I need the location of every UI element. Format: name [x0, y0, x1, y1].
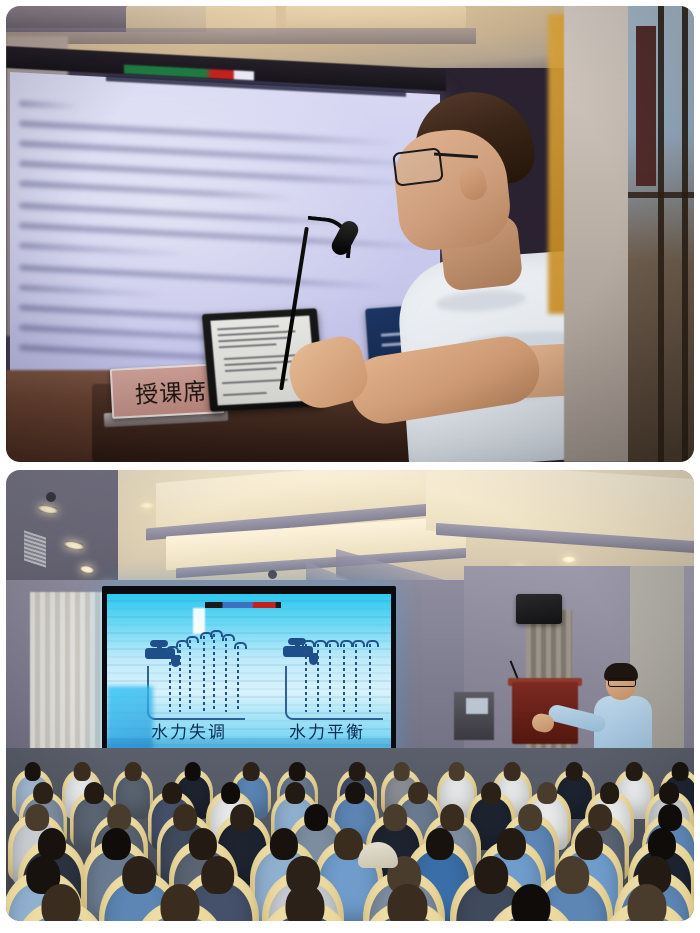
- audience-head: [511, 884, 550, 921]
- window-mullion: [658, 6, 664, 462]
- nameplate-label: 授课席: [134, 372, 208, 410]
- audience-head: [440, 804, 464, 831]
- audience-head: [289, 762, 306, 781]
- audience-head: [482, 782, 502, 804]
- screen-scanline: [107, 624, 391, 626]
- equipment-monitor: [466, 698, 488, 714]
- audience-head: [626, 762, 643, 781]
- wall-speaker-icon: [516, 594, 562, 624]
- audience-head: [504, 762, 521, 781]
- audience-head: [345, 782, 365, 804]
- audience-head: [449, 762, 466, 781]
- audience-member: [19, 884, 102, 921]
- audience-head: [659, 804, 683, 831]
- ceiling-panel: [286, 6, 466, 28]
- audience-head: [108, 804, 132, 831]
- audience-member: [366, 884, 449, 921]
- audience-head: [243, 762, 260, 781]
- audience-head: [270, 828, 298, 860]
- audience-head: [231, 804, 255, 831]
- pillar: [564, 6, 630, 462]
- ceiling-camera-icon: [46, 492, 56, 502]
- audience-head: [162, 782, 182, 804]
- screen-scanline: [107, 632, 391, 634]
- pipe-left: [147, 666, 245, 720]
- audience-head: [408, 782, 428, 804]
- window: [628, 6, 694, 462]
- downlight: [562, 556, 576, 563]
- audience-head: [33, 782, 53, 804]
- audience-head: [41, 884, 80, 921]
- audience-head: [189, 828, 217, 860]
- audience-head: [304, 804, 328, 831]
- window-rail: [628, 192, 694, 198]
- audience-head: [660, 782, 680, 804]
- audience-head: [383, 804, 407, 831]
- audience-head: [38, 828, 66, 860]
- audience-head: [497, 828, 525, 860]
- audience-head: [627, 884, 666, 921]
- photo-top-instructor-at-podium[interactable]: 授课席: [6, 6, 694, 462]
- audience-head: [349, 762, 366, 781]
- photo-bottom-audience-hall[interactable]: 水力失调 水力平衡: [6, 470, 694, 921]
- audience-head: [672, 762, 689, 781]
- audience-head: [648, 828, 676, 860]
- audience-head: [285, 782, 305, 804]
- audience-member: [605, 884, 688, 921]
- photo-collage: 授课席: [0, 0, 700, 933]
- slide-toolbar: [205, 602, 281, 608]
- ceiling-shadow: [6, 28, 476, 44]
- audience-head: [518, 804, 542, 831]
- audience-head: [600, 782, 620, 804]
- audience-head: [285, 884, 324, 921]
- audience-head: [185, 762, 202, 781]
- audience-head: [84, 782, 104, 804]
- audience-head: [74, 762, 91, 781]
- audience-head: [537, 782, 557, 804]
- audience-head: [125, 762, 142, 781]
- window-dark-panel: [636, 26, 656, 186]
- audience-head: [24, 762, 41, 781]
- audience-head: [25, 804, 49, 831]
- ceiling-camera-icon: [268, 570, 277, 579]
- audience-head: [174, 804, 198, 831]
- screen-scanline: [107, 608, 391, 610]
- screen-scanline: [107, 616, 391, 618]
- audience-member: [489, 884, 572, 921]
- audience-head: [160, 884, 199, 921]
- audience-head: [388, 884, 427, 921]
- audience-head: [566, 762, 583, 781]
- audience-head: [588, 804, 612, 831]
- audience-member: [263, 884, 346, 921]
- audience-member: [138, 884, 221, 921]
- downlight: [140, 502, 154, 509]
- audience-head: [426, 828, 454, 860]
- window-mullion: [682, 6, 688, 462]
- audience-head: [102, 828, 130, 860]
- audience-head: [575, 828, 603, 860]
- audience-head: [393, 762, 410, 781]
- glasses-icon: [608, 678, 636, 687]
- screen-highlight: [193, 608, 205, 634]
- audience-head: [221, 782, 241, 804]
